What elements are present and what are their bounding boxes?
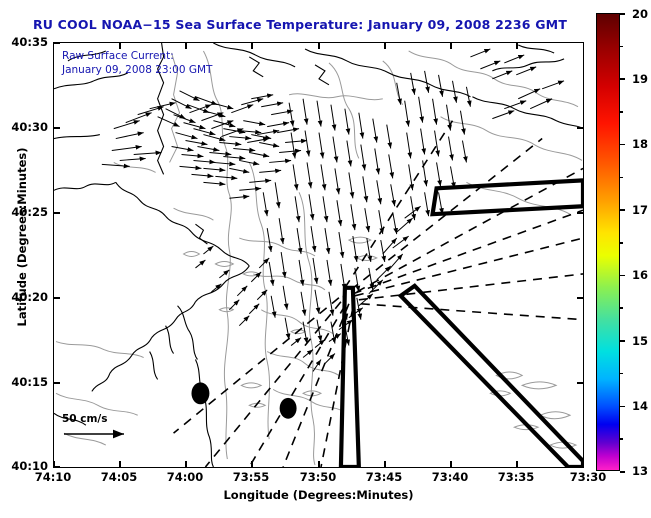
colorbar-tick-minor: [620, 177, 623, 179]
colorbar-tick: [620, 340, 625, 342]
colorbar-tick-minor: [620, 307, 623, 309]
x-tick-top: [516, 43, 518, 49]
x-tick-label: 74:00: [167, 470, 204, 484]
x-tick: [450, 461, 452, 467]
colorbar-tick: [620, 78, 625, 80]
colorbar-tick: [620, 406, 625, 408]
y-tick-right: [577, 127, 583, 129]
colorbar-tick-minor: [620, 438, 623, 440]
y-tick-label: 40:30: [48, 120, 85, 134]
scale-bar-label: 50 cm/s: [62, 413, 154, 425]
figure-title: RU COOL NOAA−15 Sea Surface Temperature:…: [0, 17, 600, 32]
colorbar-tick-minor: [620, 46, 623, 48]
colorbar-tick-minor: [620, 242, 623, 244]
x-tick-label: 73:30: [570, 470, 607, 484]
colorbar-label: 19: [632, 72, 648, 86]
y-tick-label: 40:35: [48, 35, 85, 49]
x-tick-top: [251, 43, 253, 49]
colorbar-tick: [620, 144, 625, 146]
colorbar-tick: [620, 13, 625, 15]
colorbar-gradient: [596, 13, 620, 471]
map-plot-area: Raw Surface Current: January 09, 2008 23…: [53, 42, 584, 468]
y-tick-label: 40:10: [48, 459, 85, 473]
y-axis-title: Latitude (Degrees:Minutes): [15, 137, 29, 337]
x-axis-title: Longitude (Degrees:Minutes): [53, 488, 584, 502]
x-tick-label: 73:35: [498, 470, 535, 484]
x-tick-top: [318, 43, 320, 49]
sst-map-figure: RU COOL NOAA−15 Sea Surface Temperature:…: [0, 0, 651, 518]
x-tick-top: [119, 43, 121, 49]
x-tick-label: 73:45: [366, 470, 403, 484]
y-tick-right: [577, 212, 583, 214]
x-tick-label: 73:40: [432, 470, 469, 484]
annotation-line-1: Raw Surface Current:: [62, 49, 212, 63]
colorbar-label: 20: [632, 7, 648, 21]
x-tick-label: 73:55: [233, 470, 270, 484]
x-tick: [384, 461, 386, 467]
x-tick: [516, 461, 518, 467]
current-annotation: Raw Surface Current: January 09, 2008 23…: [62, 49, 212, 77]
y-tick-label: 40:15: [48, 375, 85, 389]
x-tick: [251, 461, 253, 467]
colorbar-tick: [620, 275, 625, 277]
velocity-scale-bar: 50 cm/s: [62, 413, 154, 445]
y-tick-label: 40:20: [48, 290, 85, 304]
colorbar-tick-minor: [620, 111, 623, 113]
x-tick-label: 74:05: [101, 470, 138, 484]
x-tick: [582, 461, 584, 467]
x-tick: [119, 461, 121, 467]
x-tick: [318, 461, 320, 467]
colorbar-label: 13: [632, 464, 648, 478]
colorbar-label: 15: [632, 334, 648, 348]
colorbar-label: 16: [632, 268, 648, 282]
x-tick-top: [384, 43, 386, 49]
map-canvas: [54, 43, 583, 467]
y-tick-label: 40:25: [48, 205, 85, 219]
shipping-lane-boxes: [341, 180, 583, 467]
colorbar: [596, 13, 620, 471]
colorbar-tick-minor: [620, 373, 623, 375]
y-tick-right: [577, 297, 583, 299]
colorbar-tick: [620, 471, 625, 473]
x-tick-label: 73:50: [300, 470, 337, 484]
colorbar-label: 14: [632, 399, 648, 413]
colorbar-label: 17: [632, 203, 648, 217]
colorbar-label: 18: [632, 137, 648, 151]
x-tick-top: [450, 43, 452, 49]
y-tick-right: [577, 382, 583, 384]
x-tick-top: [185, 43, 187, 49]
station-markers: [191, 382, 296, 418]
annotation-line-2: January 09, 2008 23:00 GMT: [62, 63, 212, 77]
x-tick: [185, 461, 187, 467]
colorbar-tick: [620, 209, 625, 211]
scale-bar-arrow-icon: [62, 427, 142, 441]
